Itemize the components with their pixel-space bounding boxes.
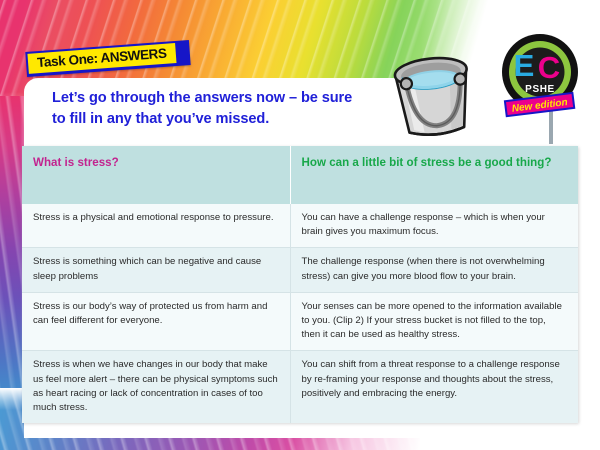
cell-stress-benefit: The challenge response (when there is no…: [290, 248, 578, 292]
ec-pshe-logo: E C PSHE New edition: [496, 32, 584, 144]
cell-stress-benefit: You can shift from a threat response to …: [290, 351, 578, 423]
cell-stress-definition: Stress is our body’s way of protected us…: [22, 292, 290, 351]
cell-stress-benefit: You can have a challenge response – whic…: [290, 204, 578, 248]
cell-stress-definition: Stress is something which can be negativ…: [22, 248, 290, 292]
logo-letter-c: C: [538, 50, 560, 85]
column-header-what-is-stress: What is stress?: [22, 146, 290, 204]
table-header-row: What is stress? How can a little bit of …: [22, 146, 578, 204]
page-title: Let’s go through the answers now – be su…: [52, 88, 362, 129]
column-header-good-thing: How can a little bit of stress be a good…: [290, 146, 578, 204]
cell-stress-definition: Stress is a physical and emotional respo…: [22, 204, 290, 248]
answers-table: What is stress? How can a little bit of …: [22, 146, 578, 423]
table-row: Stress is something which can be negativ…: [22, 248, 578, 292]
logo-subject-label: PSHE: [525, 84, 555, 95]
table-row: Stress is a physical and emotional respo…: [22, 204, 578, 248]
cell-stress-benefit: Your senses can be more opened to the in…: [290, 292, 578, 351]
table-row: Stress is when we have changes in our bo…: [22, 351, 578, 423]
slide-root: Task One: ANSWERS Let’s go through the a…: [0, 0, 600, 450]
cell-stress-definition: Stress is when we have changes in our bo…: [22, 351, 290, 423]
table-row: Stress is our body’s way of protected us…: [22, 292, 578, 351]
logo-letter-e: E: [514, 48, 535, 83]
stress-bucket-icon: [378, 38, 488, 148]
